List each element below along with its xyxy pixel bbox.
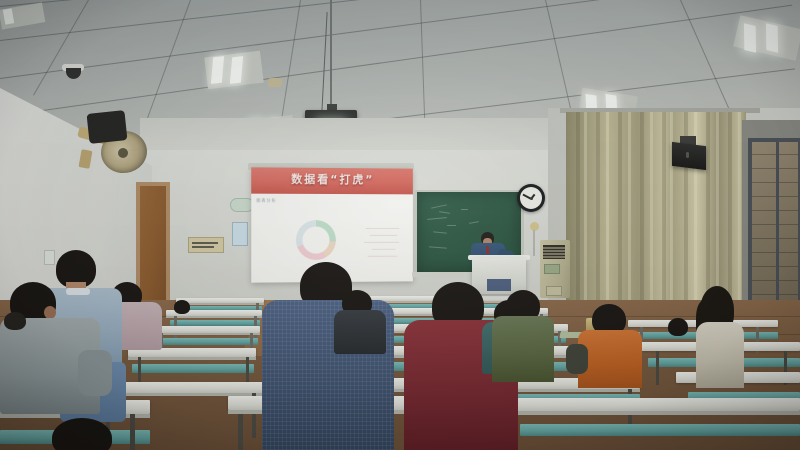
window-mullion <box>776 142 779 314</box>
ac-lower-panel <box>546 286 562 296</box>
slide-corner-label: 图表分析 <box>256 198 276 204</box>
slide-donut-chart <box>296 220 336 260</box>
light-stripe <box>766 23 778 52</box>
podium-panel <box>487 279 511 291</box>
student-collar <box>66 288 90 295</box>
slide-faint-text <box>362 226 403 260</box>
classroom-photo: 数据看“打虎” 图表分析 <box>0 0 800 450</box>
classroom-door[interactable] <box>140 186 166 302</box>
wall-sign-poster <box>232 222 248 246</box>
wall-notice-board <box>188 237 224 253</box>
fan-motor-housing <box>87 110 128 144</box>
wall-pole <box>533 230 535 256</box>
wall-speaker-icon <box>672 142 706 170</box>
fan-hub <box>118 148 128 158</box>
student-arm <box>78 350 112 396</box>
presenter-tie <box>486 246 489 254</box>
ac-display-panel[interactable] <box>544 264 560 274</box>
ac-vent <box>543 245 565 259</box>
clock-center <box>530 197 533 200</box>
student-arm <box>566 344 588 374</box>
projector-pole <box>330 0 332 112</box>
speaker-driver <box>686 152 689 158</box>
ceiling-speaker-icon <box>268 78 282 87</box>
window-glass <box>752 142 798 314</box>
slide-title: 数据看“打虎” <box>251 170 413 187</box>
light-stripe <box>744 23 756 52</box>
wall-switch-plate[interactable] <box>44 250 55 265</box>
